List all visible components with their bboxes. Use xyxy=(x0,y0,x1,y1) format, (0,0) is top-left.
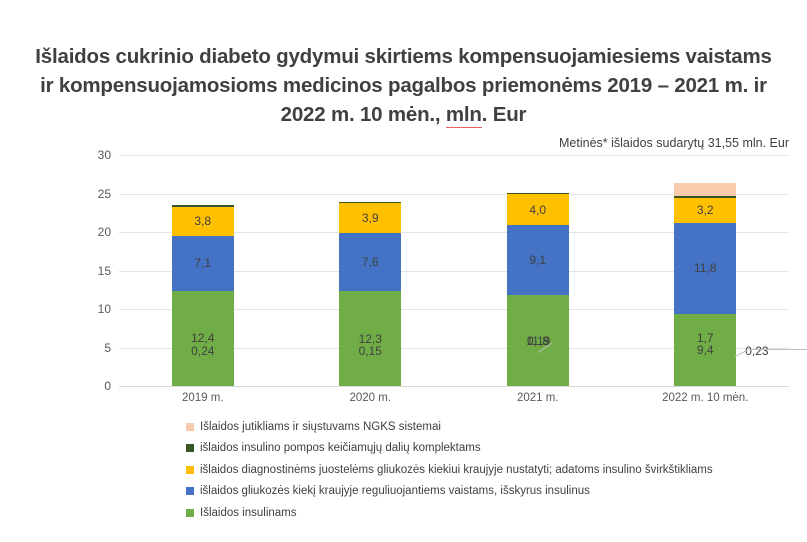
bar-group: 3,87,112,40,243,97,612,30,154,09,111,80,… xyxy=(119,155,789,386)
x-axis-category-label: 2019 m. xyxy=(119,392,287,412)
legend-swatch-icon xyxy=(186,487,194,495)
callout-leader-line xyxy=(748,349,807,350)
stacked-bar[interactable]: 4,09,111,8 xyxy=(507,193,569,386)
stacked-bar[interactable]: 3,87,112,4 xyxy=(172,205,234,386)
bar-value-callout: 0,15 xyxy=(359,344,382,358)
bar-segment[interactable]: 7,1 xyxy=(172,236,234,291)
bar-slot-4: 3,211,89,40,231,7 xyxy=(622,155,790,386)
chart-title-line-3: 2022 m. 10 mėn., mln. Eur xyxy=(30,100,777,129)
chart-legend: Išlaidos jutikliams ir siųstuvams NGKS s… xyxy=(186,416,786,524)
bar-segment-label: 4,0 xyxy=(529,203,546,217)
bar-value-callout: 0,23 xyxy=(745,344,768,358)
bar-segment[interactable]: 3,2 xyxy=(674,198,736,223)
bar-segment-label: 11,8 xyxy=(694,261,716,275)
bar-segment[interactable]: 9,4 xyxy=(674,314,736,386)
x-axis-category-label: 2021 m. xyxy=(454,392,622,412)
stacked-bar[interactable]: 3,97,612,3 xyxy=(339,202,401,386)
legend-item-glucose_drugs[interactable]: išlaidos gliukozės kiekį kraujyje reguli… xyxy=(186,481,786,503)
x-axis-category-label: 2022 m. 10 mėn. xyxy=(622,392,790,412)
bar-segment[interactable]: 7,6 xyxy=(339,233,401,292)
legend-item-test_strips[interactable]: išlaidos diagnostinėms juostelėms gliuko… xyxy=(186,459,786,481)
bar-segment[interactable]: 9,1 xyxy=(507,225,569,295)
y-axis-tick-0: 0 xyxy=(78,379,111,393)
bar-slot-1: 3,87,112,40,24 xyxy=(119,155,287,386)
bar-segment-label: 3,8 xyxy=(194,214,211,228)
plot-area: 3,87,112,40,243,97,612,30,154,09,111,80,… xyxy=(119,155,789,386)
legend-item-label: Išlaidos jutikliams ir siųstuvams NGKS s… xyxy=(200,421,441,433)
bar-slot-3: 4,09,111,80,19 xyxy=(454,155,622,386)
y-axis-tick-15: 15 xyxy=(78,264,111,278)
chart-title-line-1: Išlaidos cukrinio diabeto gydymui skirti… xyxy=(30,42,777,71)
chart-root: Išlaidos cukrinio diabeto gydymui skirti… xyxy=(0,0,807,542)
legend-swatch-icon xyxy=(186,466,194,474)
legend-swatch-icon xyxy=(186,423,194,431)
y-axis-tick-5: 5 xyxy=(78,341,111,355)
stacked-bar[interactable]: 3,211,89,4 xyxy=(674,183,736,386)
y-axis-tick-25: 25 xyxy=(78,187,111,201)
bar-slot-2: 3,97,612,30,15 xyxy=(287,155,455,386)
chart-annotation: Metinės* išlaidos sudarytų 31,55 mln. Eu… xyxy=(559,136,789,150)
bar-value-callout: 0,24 xyxy=(191,344,214,358)
bar-segment[interactable]: 4,0 xyxy=(507,194,569,225)
bar-segment[interactable] xyxy=(674,183,736,196)
y-axis-tick-30: 30 xyxy=(78,148,111,162)
legend-item-label: Išlaidos insulinams xyxy=(200,507,297,519)
legend-swatch-icon xyxy=(186,509,194,517)
bar-segment[interactable]: 3,8 xyxy=(172,207,234,236)
chart-title-line-3-post: . Eur xyxy=(482,103,527,126)
chart-title: Išlaidos cukrinio diabeto gydymui skirti… xyxy=(30,42,777,129)
bar-segment-label: 7,1 xyxy=(194,256,211,270)
legend-swatch-icon xyxy=(186,444,194,452)
bar-segment-label: 3,2 xyxy=(697,203,714,217)
y-axis-tick-10: 10 xyxy=(78,302,111,316)
legend-item-ngks_sensors[interactable]: Išlaidos jutikliams ir siųstuvams NGKS s… xyxy=(186,416,786,438)
y-axis-labels: 051015202530 xyxy=(78,155,111,386)
y-axis-tick-20: 20 xyxy=(78,225,111,239)
bar-segment-label: 3,9 xyxy=(362,211,379,225)
x-axis-category-label: 2020 m. xyxy=(287,392,455,412)
bar-segment[interactable]: 12,3 xyxy=(339,291,401,386)
chart-title-line-2: ir kompensuojamosioms medicinos pagalbos… xyxy=(30,71,777,100)
chart-title-spellcheck-word: mln xyxy=(446,103,482,128)
legend-item-insulin[interactable]: Išlaidos insulinams xyxy=(186,502,786,524)
legend-item-pump_parts[interactable]: išlaidos insulino pompos keičiamųjų dali… xyxy=(186,438,786,460)
bar-segment-label: 7,6 xyxy=(362,255,379,269)
legend-item-label: išlaidos diagnostinėms juostelėms gliuko… xyxy=(200,464,713,476)
x-axis-line xyxy=(119,386,789,387)
legend-item-label: išlaidos insulino pompos keičiamųjų dali… xyxy=(200,442,481,454)
chart-title-line-3-pre: 2022 m. 10 mėn., xyxy=(281,103,446,126)
bar-segment[interactable]: 12,4 xyxy=(172,291,234,386)
bar-segment[interactable]: 11,8 xyxy=(674,223,736,314)
legend-item-label: išlaidos gliukozės kiekį kraujyje reguli… xyxy=(200,485,590,497)
bar-value-callout: 1,7 xyxy=(697,331,714,345)
x-axis-labels: 2019 m.2020 m.2021 m.2022 m. 10 mėn. xyxy=(119,392,789,412)
bar-segment[interactable]: 3,9 xyxy=(339,203,401,233)
bar-segment-label: 9,1 xyxy=(529,253,546,267)
